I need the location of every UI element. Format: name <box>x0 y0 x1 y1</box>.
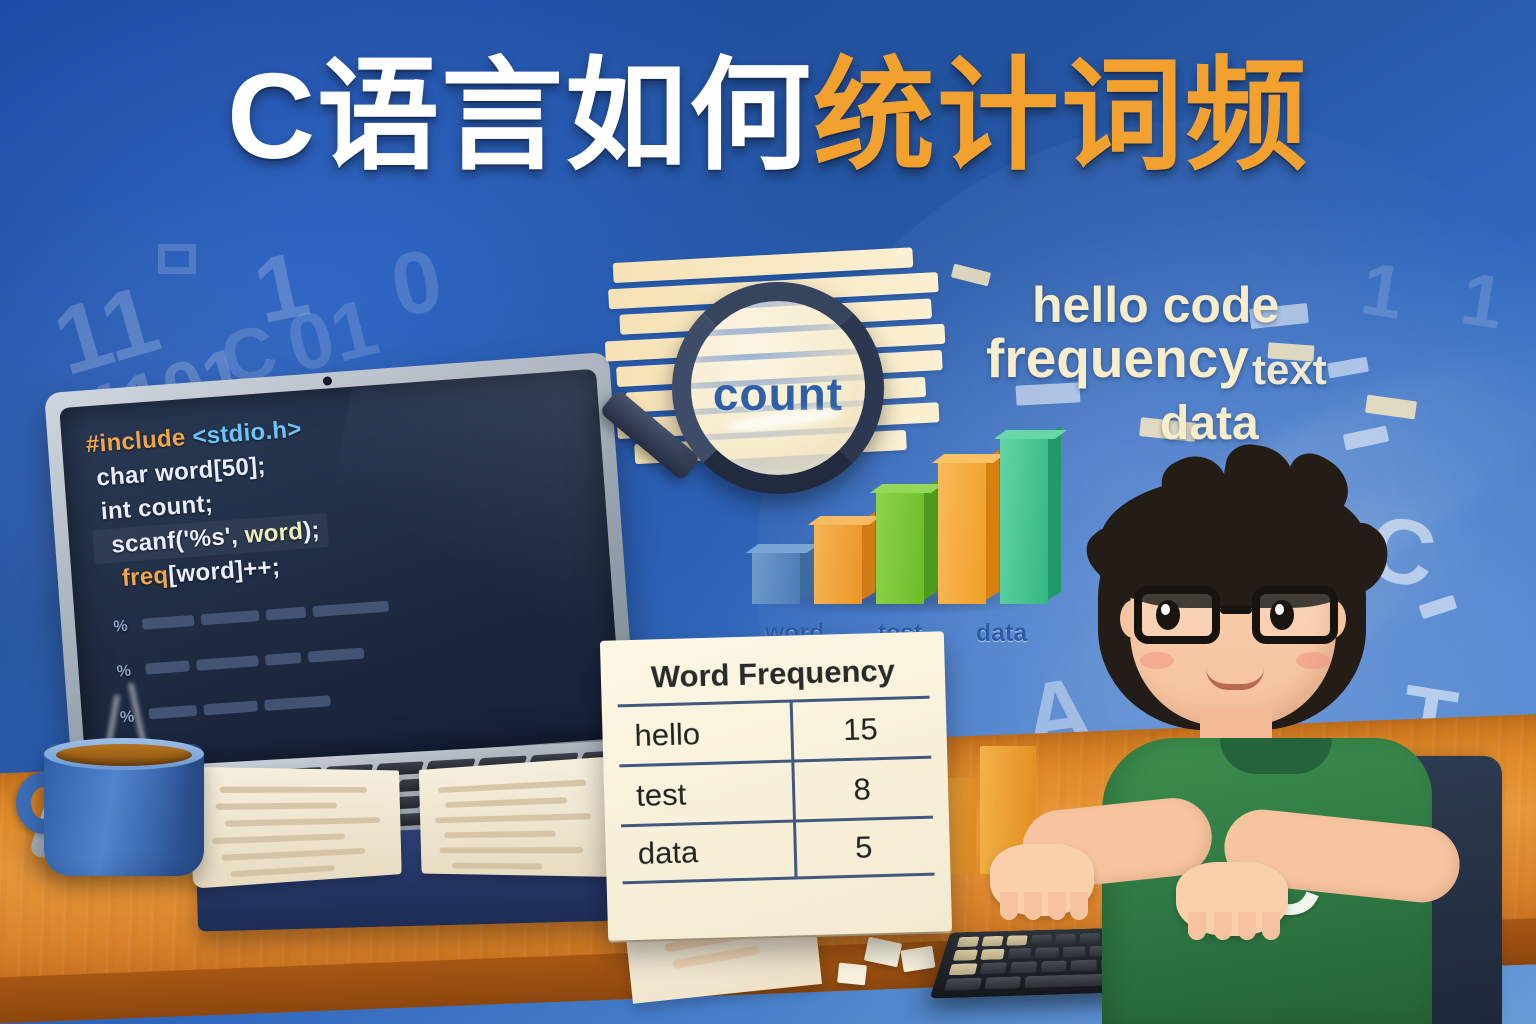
hand-right <box>1176 862 1288 936</box>
chart-bar <box>876 492 924 604</box>
table-row: data 5 <box>621 816 935 885</box>
table-cell-word: test <box>620 773 793 814</box>
cloud-word: text <box>1252 346 1327 394</box>
code-scanf-tail: ); <box>302 517 321 545</box>
magnifier-ring <box>672 282 884 494</box>
frequency-table: hello 15 test 8 data 5 <box>618 696 935 885</box>
table-row: test 8 <box>619 756 933 825</box>
binary-glyph-square <box>158 244 196 274</box>
coffee-mug <box>18 730 230 890</box>
chart-tick-label: data <box>976 619 1027 648</box>
title-white-part: C语言如何 <box>227 48 813 184</box>
glasses-icon <box>1134 586 1338 644</box>
blush-right <box>1296 652 1330 669</box>
table-row: hello 15 <box>618 696 932 765</box>
table-cell-count: 15 <box>790 709 931 749</box>
paper-scrap <box>837 963 867 986</box>
code-header: <stdio.h> <box>191 416 302 451</box>
coffee-liquid <box>56 744 192 766</box>
magnifier-icon: count <box>672 282 884 494</box>
code-directive: #include <box>85 424 186 458</box>
binary-glyph-1: 1 <box>246 232 318 345</box>
title-orange-part: 统计词频 <box>813 48 1309 184</box>
page-title: C语言如何统计词频 <box>0 52 1536 181</box>
binary-glyph-0: 0 <box>384 229 450 338</box>
table-cell-word: hello <box>618 713 791 754</box>
code-freq: freq <box>121 562 169 592</box>
cloud-word: data <box>1160 396 1259 451</box>
laptop: #include <stdio.h> char word[50]; int co… <box>44 352 638 792</box>
laptop-screen: #include <stdio.h> char word[50]; int co… <box>59 369 623 777</box>
boy-character: C <box>1048 470 1478 1024</box>
code-marker: % <box>116 661 140 685</box>
glasses-lens-right <box>1252 586 1338 644</box>
glasses-bridge <box>1220 606 1252 614</box>
hand-left <box>990 844 1094 916</box>
chart-bar <box>814 524 862 604</box>
code-freq-tail: [word]++; <box>167 554 281 589</box>
code-arg-word: word <box>244 518 304 549</box>
eye-left <box>1156 600 1180 630</box>
binary-glyph-right-1b: 1 <box>1456 255 1510 345</box>
open-book <box>194 760 628 939</box>
table-title: Word Frequency <box>600 631 946 705</box>
binary-glyph-11: 11 <box>43 264 171 398</box>
blush-left <box>1140 652 1174 669</box>
code-editor: #include <stdio.h> char word[50]; int co… <box>85 392 608 734</box>
chart-bar <box>1000 438 1048 604</box>
table-cell-count: 8 <box>792 769 933 809</box>
code-scanf: scanf('%s', <box>110 523 238 559</box>
poster-canvas: 11 01 1 0 01101 C 1 1 C T B A C语言如何统计词频 … <box>0 0 1536 1024</box>
chart-bar <box>752 552 800 604</box>
table-cell-count: 5 <box>793 828 934 868</box>
code-marker: % <box>113 616 137 640</box>
table-cell-word: data <box>621 832 794 873</box>
eye-right <box>1270 600 1294 630</box>
shirt-collar <box>1220 738 1332 774</box>
chart-bar <box>938 462 986 604</box>
word-frequency-card: Word Frequency hello 15 test 8 data 5 <box>600 631 952 940</box>
cloud-word: frequency <box>986 326 1249 390</box>
book-page-right <box>419 755 631 877</box>
